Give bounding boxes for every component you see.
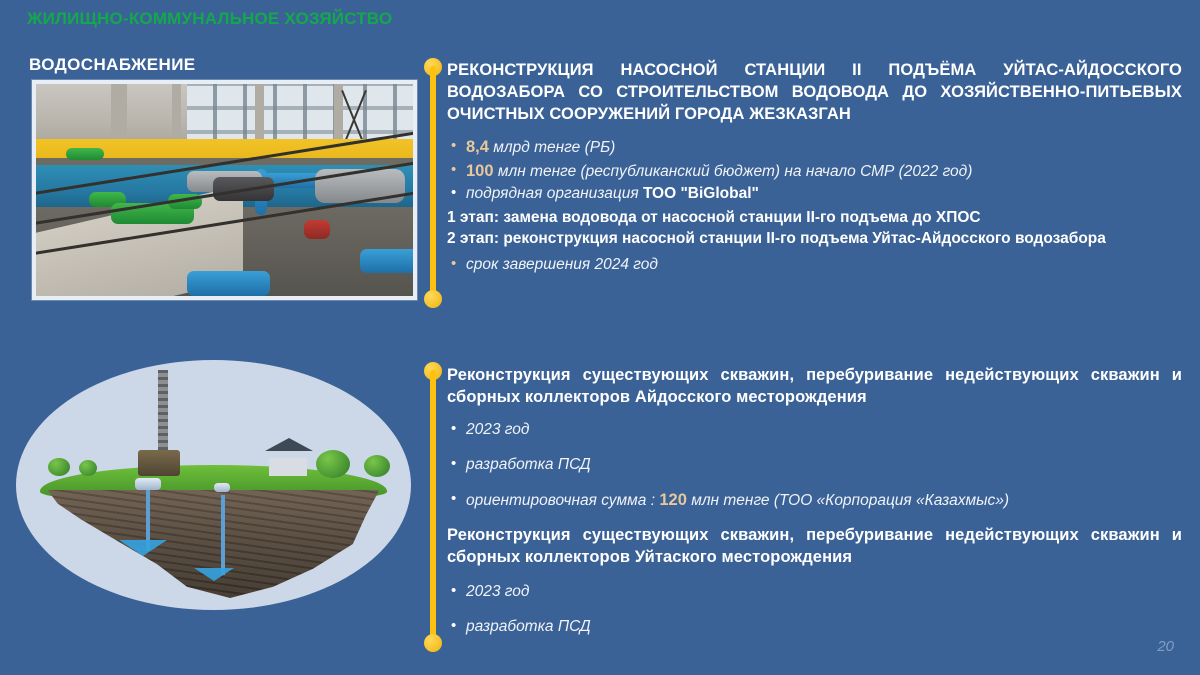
connector-line-block1 <box>423 58 443 308</box>
block2-heading-2: Реконструкция существующих скважин, пере… <box>447 525 1182 569</box>
list-item-label: млрд тенге (РБ) <box>493 139 615 156</box>
page-number: 20 <box>1157 638 1174 655</box>
illustration-drawdown-cone <box>194 568 234 581</box>
amount-value: 120 <box>659 491 687 509</box>
block2-bullet-list-2: 2023 год разработка ПСД <box>447 581 1182 638</box>
list-item-prefix: ориентировочная сумма : <box>466 492 659 509</box>
list-item: 2023 год <box>447 581 1182 603</box>
list-item-label: разработка ПСД <box>466 618 591 635</box>
list-item-label: срок завершения 2024 год <box>466 256 658 273</box>
connector-dot-bottom <box>424 290 442 308</box>
pump-station-interior-photo <box>32 80 417 300</box>
illustration-drilling-rig-base <box>138 450 180 476</box>
illustration-soil-texture <box>48 490 380 603</box>
block1-bullet-list: 8,4 млрд тенге (РБ) 100 млн тенге (респу… <box>447 136 1182 205</box>
photo-blue-pipe <box>360 249 413 272</box>
block1-stage-2: 2 этап: реконструкция насосной станции I… <box>447 228 1182 249</box>
illustration-tree <box>48 458 70 476</box>
photo-canvas <box>36 84 413 296</box>
illustration-well-pipe <box>221 495 225 575</box>
list-item: срок завершения 2024 год <box>447 254 1182 276</box>
block2-heading-1: Реконструкция существующих скважин, пере… <box>447 365 1182 409</box>
groundwater-wells-illustration <box>16 360 411 610</box>
list-item-label: 2023 год <box>466 583 529 600</box>
illustration-drawdown-cone <box>119 540 167 556</box>
connector-line-block2 <box>423 362 443 652</box>
amount-value: 8,4 <box>466 138 489 156</box>
contractor-name: ТОО "BiGlobal" <box>643 185 759 202</box>
connector-bar <box>430 370 436 644</box>
connector-bar <box>430 66 436 300</box>
list-item: ориентировочная сумма : 120 млн тенге (Т… <box>447 489 1182 512</box>
illustration-tree <box>316 450 350 478</box>
list-item: разработка ПСД <box>447 616 1182 638</box>
list-item-label: млн тенге (ТОО «Корпорация «Казахмыс») <box>691 492 1009 509</box>
photo-blue-pipe <box>187 271 270 296</box>
list-item-label: подрядная организация <box>466 185 643 202</box>
content-block-1: РЕКОНСТРУКЦИЯ НАСОСНОЙ СТАНЦИИ II ПОДЪЁМ… <box>447 60 1182 276</box>
page-title: ЖИЛИЩНО-КОММУНАЛЬНОЕ ХОЗЯЙСТВО <box>27 9 392 29</box>
subsection-title: ВОДОСНАБЖЕНИЕ <box>29 55 196 75</box>
photo-red-unit <box>304 220 330 239</box>
illustration-house-roof <box>265 438 313 451</box>
illustration-wellhead <box>135 478 161 490</box>
block1-final-bullet-list: срок завершения 2024 год <box>447 254 1182 276</box>
list-item-label: 2023 год <box>466 421 529 438</box>
list-item: подрядная организация ТОО "BiGlobal" <box>447 183 1182 205</box>
content-block-2: Реконструкция существующих скважин, пере… <box>447 365 1182 651</box>
illustration-tree <box>364 455 390 477</box>
block1-heading: РЕКОНСТРУКЦИЯ НАСОСНОЙ СТАНЦИИ II ПОДЪЁМ… <box>447 60 1182 125</box>
illustration-wellhead <box>214 483 230 492</box>
list-item: 2023 год <box>447 419 1182 441</box>
photo-green-valve <box>66 148 104 161</box>
list-item: 8,4 млрд тенге (РБ) <box>447 136 1182 159</box>
list-item: разработка ПСД <box>447 454 1182 476</box>
list-item-label: млн тенге (республиканский бюджет) на на… <box>498 163 973 180</box>
amount-value: 100 <box>466 162 494 180</box>
slide-root: ЖИЛИЩНО-КОММУНАЛЬНОЕ ХОЗЯЙСТВО ВОДОСНАБЖ… <box>0 0 1200 675</box>
list-item-label: разработка ПСД <box>466 456 591 473</box>
list-item: 100 млн тенге (республиканский бюджет) н… <box>447 160 1182 183</box>
connector-dot-bottom <box>424 634 442 652</box>
block1-stage-1: 1 этап: замена водовода от насосной стан… <box>447 207 1182 228</box>
block2-bullet-list-1: 2023 год разработка ПСД ориентировочная … <box>447 419 1182 512</box>
illustration-house <box>269 458 307 476</box>
